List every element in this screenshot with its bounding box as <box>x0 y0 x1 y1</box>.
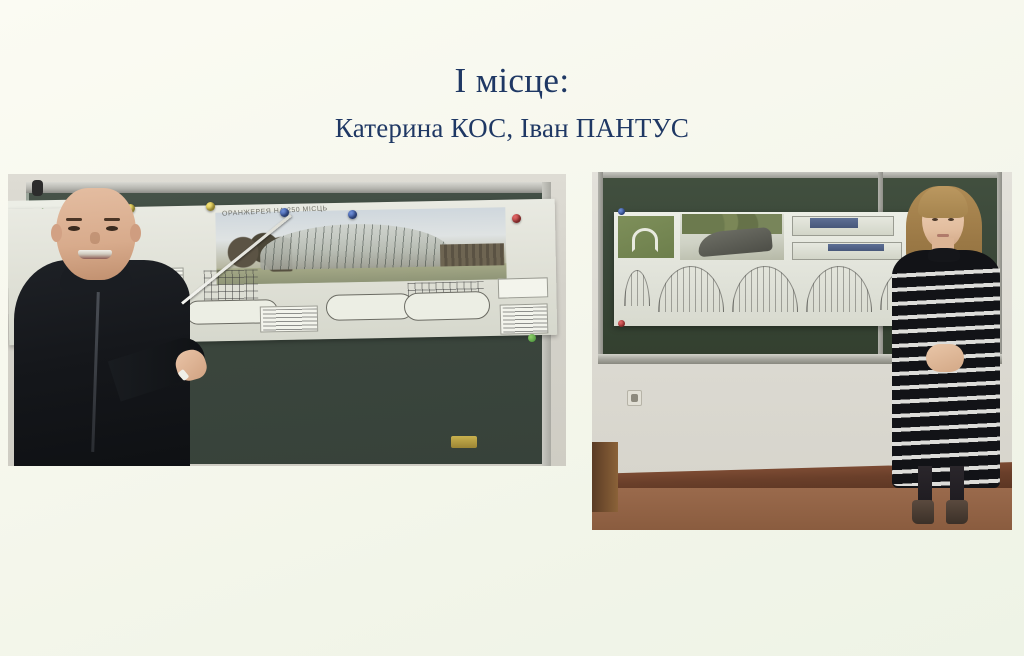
wooden-doorpost <box>592 442 618 512</box>
page-subtitle: Катерина КОС, Іван ПАНТУС <box>0 110 1024 146</box>
eye-left <box>68 226 80 231</box>
spec-table-2 <box>260 305 318 332</box>
magnet-pin-blue <box>618 208 625 215</box>
arc-floor-plan-1 <box>624 270 650 306</box>
elevation-roof-blue <box>810 218 858 228</box>
aerial-rendering <box>680 214 784 260</box>
electrical-outlet-socket-icon <box>631 394 638 402</box>
arc-floor-plan-2 <box>658 266 724 312</box>
table-lines <box>503 306 548 333</box>
eye-right <box>948 218 954 221</box>
magnet-pin-red <box>512 214 521 223</box>
magnet-pin-yellow <box>206 202 215 211</box>
presentation-slide: І місце: Катерина КОС, Іван ПАНТУС ОРАНЖ… <box>0 0 1024 656</box>
building-rendering <box>215 207 506 285</box>
eye-left <box>932 218 938 221</box>
boot-right <box>946 500 968 524</box>
magnet-pin-blue <box>348 210 357 219</box>
photo-student-female-presenting <box>592 172 1012 530</box>
ear-right <box>130 224 141 242</box>
eyebrow-left <box>66 218 82 221</box>
page-title: І місце: <box>0 58 1024 104</box>
photo-student-male-presenting: ОРАНЖЕРЕЯ НА 250 МІСЦЬ <box>8 174 566 466</box>
nose <box>90 232 100 244</box>
mouth <box>937 234 949 237</box>
boot-left <box>912 500 934 524</box>
student-female-hands <box>926 344 964 372</box>
chalkboard-seam <box>598 172 603 356</box>
floor-plan-oval-2 <box>326 293 414 321</box>
elevation-drawing <box>498 277 549 298</box>
magnet-pin-green <box>528 334 536 342</box>
greenhouse-ribs <box>260 222 451 270</box>
spec-table-3 <box>500 303 549 334</box>
floor-plan-oval-3 <box>404 291 491 321</box>
arc-floor-plan-4 <box>806 266 872 312</box>
magnet-pin-red <box>618 320 625 327</box>
striped-dress-pattern <box>892 264 1000 486</box>
board-knob-icon <box>32 180 43 196</box>
rendering-hedge <box>440 243 504 266</box>
chalk-sponge <box>451 436 477 448</box>
mouth-smiling <box>78 250 112 259</box>
arc-floor-plan-3 <box>732 266 798 312</box>
chalkboard-top-rail <box>598 172 1002 178</box>
eye-right <box>106 226 118 231</box>
ear-left <box>51 224 62 242</box>
elevation-roof-blue <box>828 244 884 251</box>
dress-collar <box>928 248 960 262</box>
site-plan-arc <box>632 228 658 252</box>
eyebrow-right <box>104 218 120 221</box>
table-lines <box>263 308 317 331</box>
title-block: І місце: Катерина КОС, Іван ПАНТУС <box>0 58 1024 146</box>
